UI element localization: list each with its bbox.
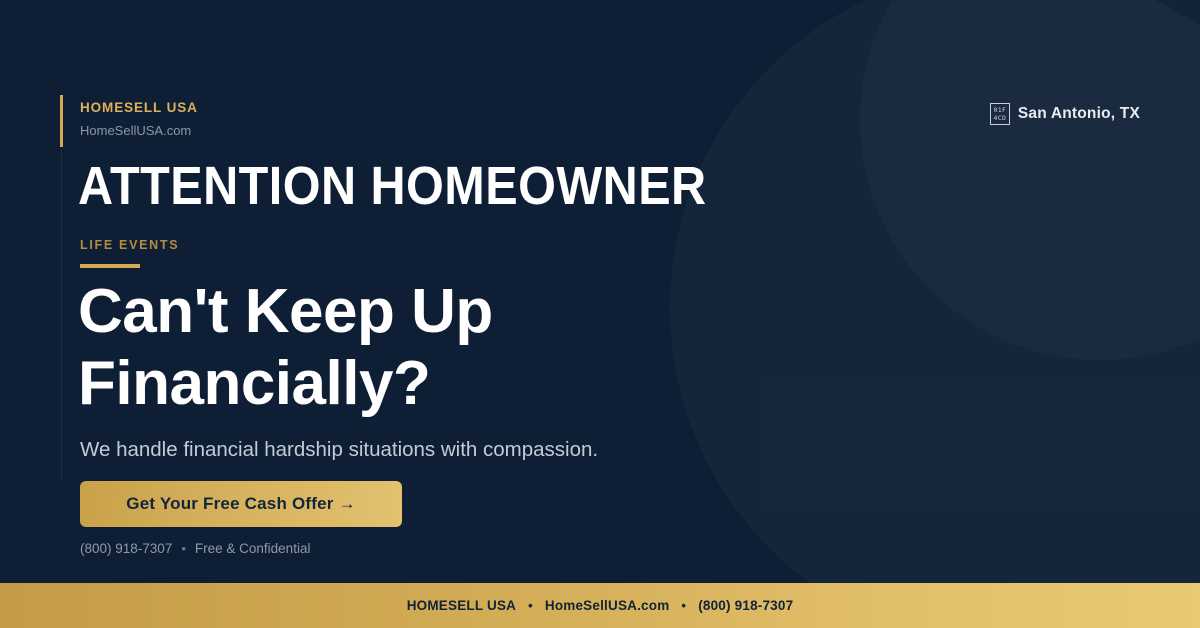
map-pin-icon: 01F 4CD <box>990 103 1010 125</box>
footer-separator-dot-2: • <box>681 598 686 613</box>
footer-bar: HOMESELL USA • HomeSellUSA.com • (800) 9… <box>0 583 1200 628</box>
contact-separator-dot: • <box>181 541 186 556</box>
tofu-codepoint-top: 01F <box>994 106 1007 115</box>
eyebrow-label: LIFE EVENTS <box>80 238 179 252</box>
hero-subheading: We handle financial hardship situations … <box>80 437 598 464</box>
footer-website[interactable]: HomeSellUSA.com <box>545 598 670 613</box>
brand-name: HOMESELL USA <box>80 100 198 117</box>
tofu-codepoint-bottom: 4CD <box>994 114 1007 123</box>
contact-line: (800) 918-7307 • Free & Confidential <box>80 541 310 556</box>
brand-block: HOMESELL USA HomeSellUSA.com <box>80 100 198 138</box>
footer-separator-dot-1: • <box>528 598 533 613</box>
brand-accent-bar <box>60 95 63 147</box>
attention-banner: ATTENTION HOMEOWNER <box>78 158 707 215</box>
eyebrow-underline <box>80 264 140 268</box>
footer-brand: HOMESELL USA <box>407 598 516 613</box>
contact-note: Free & Confidential <box>195 541 311 556</box>
page-title: Can't Keep Up Financially? <box>78 276 698 420</box>
location-label: San Antonio, TX <box>1018 105 1140 123</box>
vertical-guide-line <box>61 150 62 480</box>
location-badge: 01F 4CD San Antonio, TX <box>990 103 1140 125</box>
hero-section: HOMESELL USA HomeSellUSA.com 01F 4CD San… <box>0 0 1200 583</box>
contact-phone[interactable]: (800) 918-7307 <box>80 541 172 556</box>
footer-phone[interactable]: (800) 918-7307 <box>698 598 793 613</box>
get-free-cash-offer-button[interactable]: Get Your Free Cash Offer → <box>80 481 402 527</box>
brand-website: HomeSellUSA.com <box>80 123 198 139</box>
eyebrow-block: LIFE EVENTS <box>80 238 179 268</box>
